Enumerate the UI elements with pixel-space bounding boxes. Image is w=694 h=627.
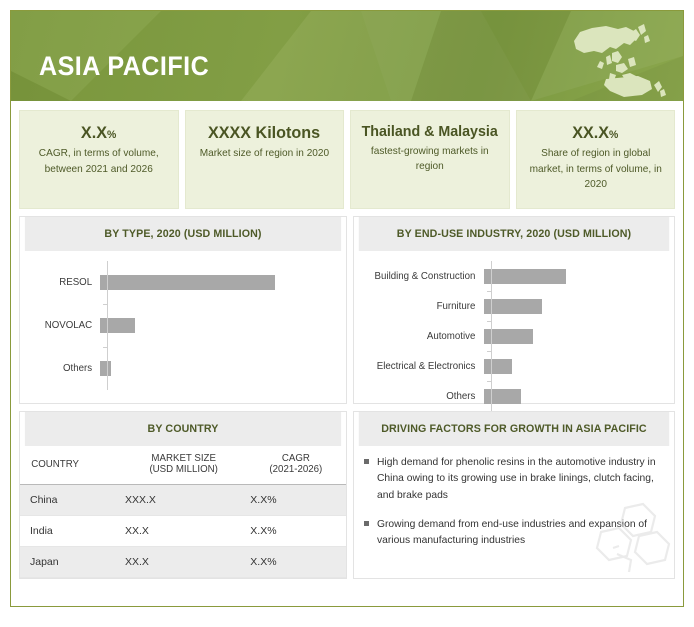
kpi-card-global-share: XX.X% Share of region in global market, … [516, 110, 676, 209]
axis-tick [487, 321, 491, 322]
chart-bar [100, 275, 275, 290]
chart-category-label: Electrical & Electronics [364, 361, 482, 372]
table-body: ChinaXXX.XX.X%IndiaXX.XX.X%JapanXX.XX.X% [20, 485, 346, 578]
cell-country: Japan [20, 547, 121, 578]
kpi-value: Thailand & Malaysia [362, 123, 498, 141]
axis-tick [103, 347, 107, 348]
chart-bar [484, 299, 542, 314]
chart-bar [484, 389, 521, 404]
kpi-label: Market size of region in 2020 [200, 146, 329, 161]
kpi-label: fastest-growing markets in region [360, 144, 500, 174]
cell-country: India [20, 516, 121, 547]
kpi-value: XXXX Kilotons [208, 123, 320, 143]
chart-bar-row: NOVOLAC [28, 304, 338, 347]
driving-factors-list: High demand for phenolic resins in the a… [354, 446, 674, 571]
kpi-card-cagr: X.X% CAGR, in terms of volume, between 2… [19, 110, 179, 209]
axis-tick [487, 381, 491, 382]
chart-category-label: Others [29, 363, 99, 374]
table-row: ChinaXXX.XX.X% [20, 485, 346, 516]
panel-driving-factors: DRIVING FACTORS FOR GROWTH IN ASIA PACIF… [353, 411, 675, 579]
kpi-label: CAGR, in terms of volume, between 2021 a… [29, 146, 169, 176]
panel-title: BY END-USE INDUSTRY, 2020 (USD MILLION) [359, 217, 669, 251]
driving-factor-text: Growing demand from end-use industries a… [377, 516, 658, 549]
chart-bar-row: Building & Construction [362, 261, 666, 291]
panel-by-type: BY TYPE, 2020 (USD MILLION) RESOLNOVOLAC… [19, 216, 347, 404]
page-title: ASIA PACIFIC [39, 51, 209, 82]
driving-factor-item: Growing demand from end-use industries a… [360, 516, 664, 549]
region-header-banner: ASIA PACIFIC [11, 11, 683, 101]
chart-category-label: NOVOLAC [29, 320, 99, 331]
cell-market-size: XXX.X [121, 485, 246, 516]
chart-bar-row: Automotive [362, 321, 666, 351]
kpi-value: X.X% [81, 123, 116, 143]
bullet-icon [364, 459, 369, 464]
table-row: JapanXX.XX.X% [20, 547, 346, 578]
chart-bar-row: Electrical & Electronics [362, 351, 666, 381]
driving-factor-item: High demand for phenolic resins in the a… [360, 454, 664, 503]
cell-cagr: X.X% [246, 547, 346, 578]
table-row: IndiaXX.XX.X% [20, 516, 346, 547]
chart-category-label: RESOL [29, 277, 99, 288]
cell-cagr: X.X% [246, 516, 346, 547]
axis-tick [487, 291, 491, 292]
chart-panel-row: BY TYPE, 2020 (USD MILLION) RESOLNOVOLAC… [11, 209, 683, 404]
infographic-frame: ASIA PACIFIC X.X% CAGR, [10, 10, 684, 607]
asia-pacific-map-icon [566, 19, 671, 99]
panel-title: BY TYPE, 2020 (USD MILLION) [25, 217, 341, 251]
cell-cagr: X.X% [246, 485, 346, 516]
bullet-icon [364, 521, 369, 526]
table-header: COUNTRY MARKET SIZE (USD MILLION) CAGR (… [20, 446, 346, 485]
axis-tick [487, 351, 491, 352]
cell-country: China [20, 485, 121, 516]
chart-category-label: Furniture [364, 301, 482, 312]
driving-factor-text: High demand for phenolic resins in the a… [377, 454, 658, 503]
column-header-cagr: CAGR (2021-2026) [248, 446, 345, 485]
axis-tick [103, 304, 107, 305]
panel-title: DRIVING FACTORS FOR GROWTH IN ASIA PACIF… [359, 412, 669, 446]
chart-bar-row: RESOL [28, 261, 338, 304]
country-table: COUNTRY MARKET SIZE (USD MILLION) CAGR (… [20, 446, 346, 578]
kpi-card-market-size: XXXX Kilotons Market size of region in 2… [185, 110, 345, 209]
cell-market-size: XX.X [121, 516, 246, 547]
chart-category-label: Automotive [364, 331, 482, 342]
panel-by-end-use: BY END-USE INDUSTRY, 2020 (USD MILLION) … [353, 216, 675, 404]
column-header-country: COUNTRY [22, 446, 120, 485]
kpi-label: Share of region in global market, in ter… [525, 146, 665, 192]
chart-bar-row: Others [28, 347, 338, 390]
chart-bar-row: Furniture [362, 291, 666, 321]
panel-title: BY COUNTRY [25, 412, 341, 446]
kpi-card-fastest-growing: Thailand & Malaysia fastest-growing mark… [350, 110, 510, 209]
panel-by-country: BY COUNTRY COUNTRY MARKET SIZE (USD MILL… [19, 411, 347, 579]
column-header-market-size: MARKET SIZE (USD MILLION) [123, 446, 245, 485]
chart-bar-row: Others [362, 381, 666, 411]
bottom-panel-row: BY COUNTRY COUNTRY MARKET SIZE (USD MILL… [11, 404, 683, 579]
chart-bar [100, 318, 135, 333]
cell-market-size: XX.X [121, 547, 246, 578]
chart-category-label: Building & Construction [364, 271, 482, 282]
kpi-card-row: X.X% CAGR, in terms of volume, between 2… [11, 101, 683, 209]
chart-bar [484, 269, 566, 284]
chart-bar [484, 359, 512, 374]
bar-chart-by-type: RESOLNOVOLACOthers [28, 261, 338, 390]
chart-bar [100, 361, 111, 376]
kpi-value: XX.X% [572, 123, 618, 143]
chart-category-label: Others [364, 391, 482, 402]
bar-chart-by-end-use: Building & ConstructionFurnitureAutomoti… [362, 261, 666, 411]
